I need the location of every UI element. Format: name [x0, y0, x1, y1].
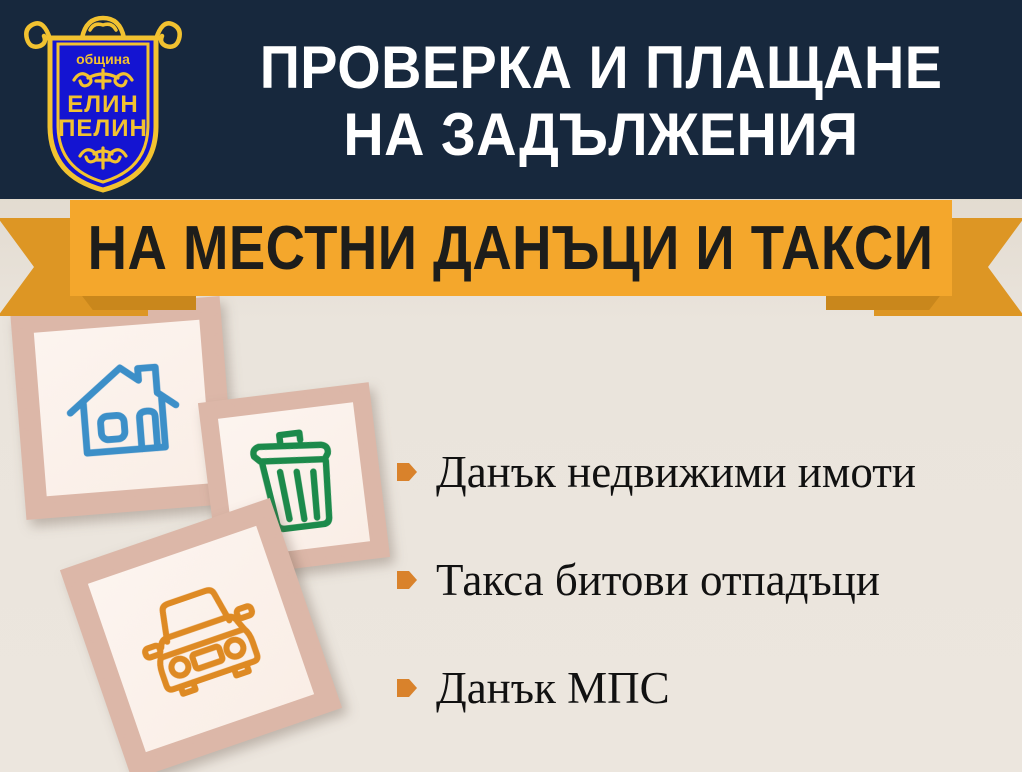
- stamp-card-group: [0, 296, 430, 772]
- header-title: ПРОВЕРКА И ПЛАЩАНЕ НА ЗАДЪЛЖЕНИЯ: [188, 16, 1014, 186]
- list-item[interactable]: Такса битови отпадъци: [396, 526, 1012, 634]
- list-item-label: Данък недвижими имоти: [436, 450, 916, 495]
- ribbon-banner: НА МЕСТНИ ДАНЪЦИ И ТАКСИ: [70, 200, 952, 296]
- title-line-2: НА ЗАДЪЛЖЕНИЯ: [343, 101, 858, 168]
- crest-name-line-1: ЕЛИН: [67, 91, 138, 118]
- title-line-1: ПРОВЕРКА И ПЛАЩАНЕ: [260, 34, 943, 101]
- arrow-bullet-icon: [396, 460, 418, 484]
- crest-name-line-2: ПЕЛИН: [58, 115, 148, 142]
- header-bar: община ЕЛИН ПЕЛИН: [0, 0, 1022, 199]
- list-item[interactable]: Данък МПС: [396, 634, 1012, 742]
- list-item-label: Данък МПС: [436, 666, 670, 711]
- house-icon: [60, 354, 186, 465]
- list-item-label: Такса битови отпадъци: [436, 558, 880, 603]
- arrow-bullet-icon: [396, 676, 418, 700]
- list-item[interactable]: Данък недвижими имоти: [396, 418, 1012, 526]
- arrow-bullet-icon: [396, 568, 418, 592]
- crest-municipality-label: община: [76, 51, 130, 67]
- municipality-crest: община ЕЛИН ПЕЛИН: [22, 8, 184, 194]
- tax-type-list: Данък недвижими имоти Такса битови отпад…: [396, 418, 1012, 742]
- ribbon-label: НА МЕСТНИ ДАНЪЦИ И ТАКСИ: [88, 213, 934, 284]
- car-icon: [127, 572, 275, 706]
- subtitle-ribbon: НА МЕСТНИ ДАНЪЦИ И ТАКСИ: [0, 196, 1022, 316]
- poster-canvas: община ЕЛИН ПЕЛИН: [0, 0, 1022, 772]
